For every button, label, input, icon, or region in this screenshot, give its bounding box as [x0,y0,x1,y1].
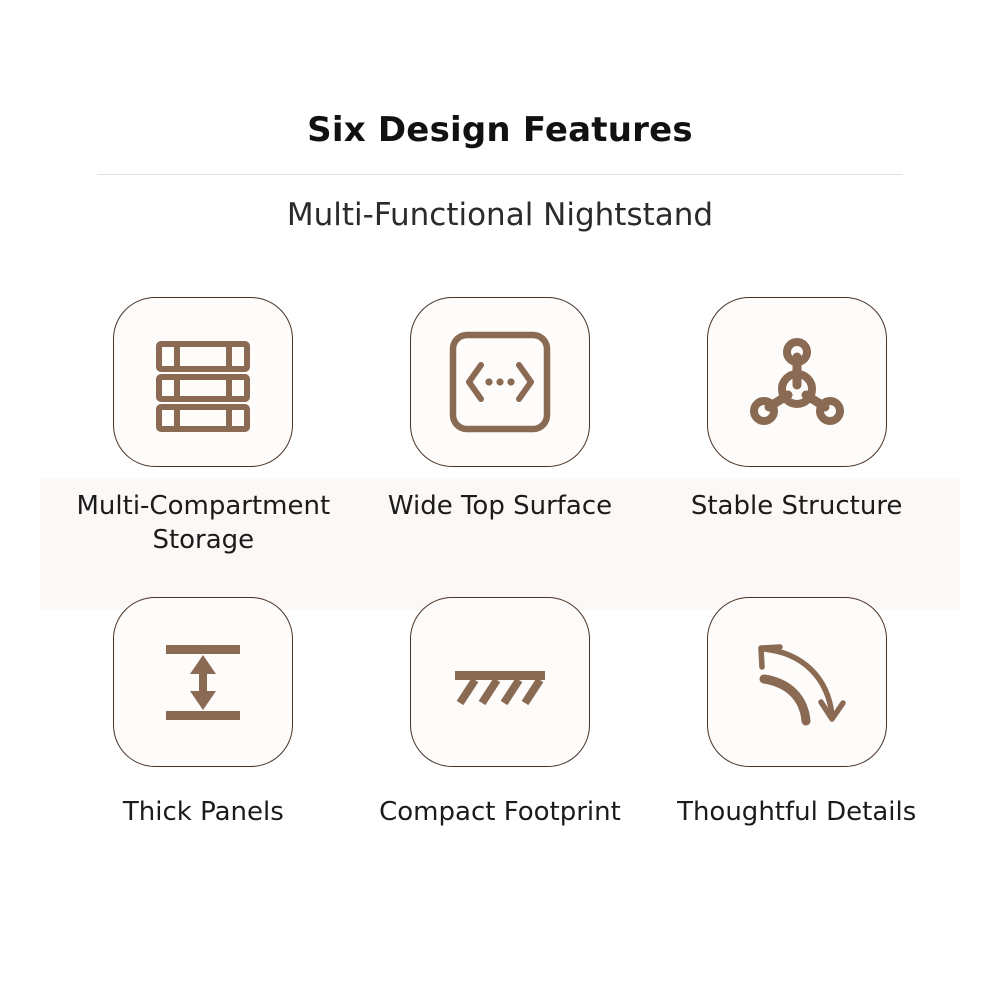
feature-icon-tile [707,597,887,767]
feature-overview-page: Six Design Features Multi-Functional Nig… [0,0,1000,1000]
curved-double-arrow-icon [742,627,852,737]
feature-item-multi-compartment-storage: Multi-Compartment Storage [55,297,352,558]
horizontal-expand-arrows-icon [445,327,555,437]
feature-icon-tile [410,297,590,467]
feature-item-stable-structure: Stable Structure [648,297,945,558]
feature-label: Multi-Compartment Storage [55,489,352,558]
feature-label: Wide Top Surface [388,489,612,523]
feature-icon-tile [113,297,293,467]
feature-item-thick-panels: Thick Panels [55,597,352,829]
feature-grid: Multi-Compartment Storage [0,297,1000,830]
page-title: Six Design Features [0,0,1000,149]
feature-icon-tile [707,297,887,467]
feature-item-wide-top-surface: Wide Top Surface [352,297,649,558]
feature-icon-tile [410,597,590,767]
feature-label: Compact Footprint [379,795,621,829]
feature-label: Stable Structure [691,489,903,523]
molecule-nodes-icon [742,327,852,437]
hatched-ground-bar-icon [445,627,555,737]
feature-icon-tile [113,597,293,767]
feature-item-thoughtful-details: Thoughtful Details [648,597,945,829]
compartment-shelves-icon [148,327,258,437]
page-header: Six Design Features Multi-Functional Nig… [0,0,1000,235]
feature-item-compact-footprint: Compact Footprint [352,597,649,829]
feature-label: Thick Panels [123,795,284,829]
feature-label: Thoughtful Details [677,795,916,829]
vertical-thickness-arrow-icon [148,627,258,737]
page-subtitle: Multi-Functional Nightstand [0,175,1000,234]
